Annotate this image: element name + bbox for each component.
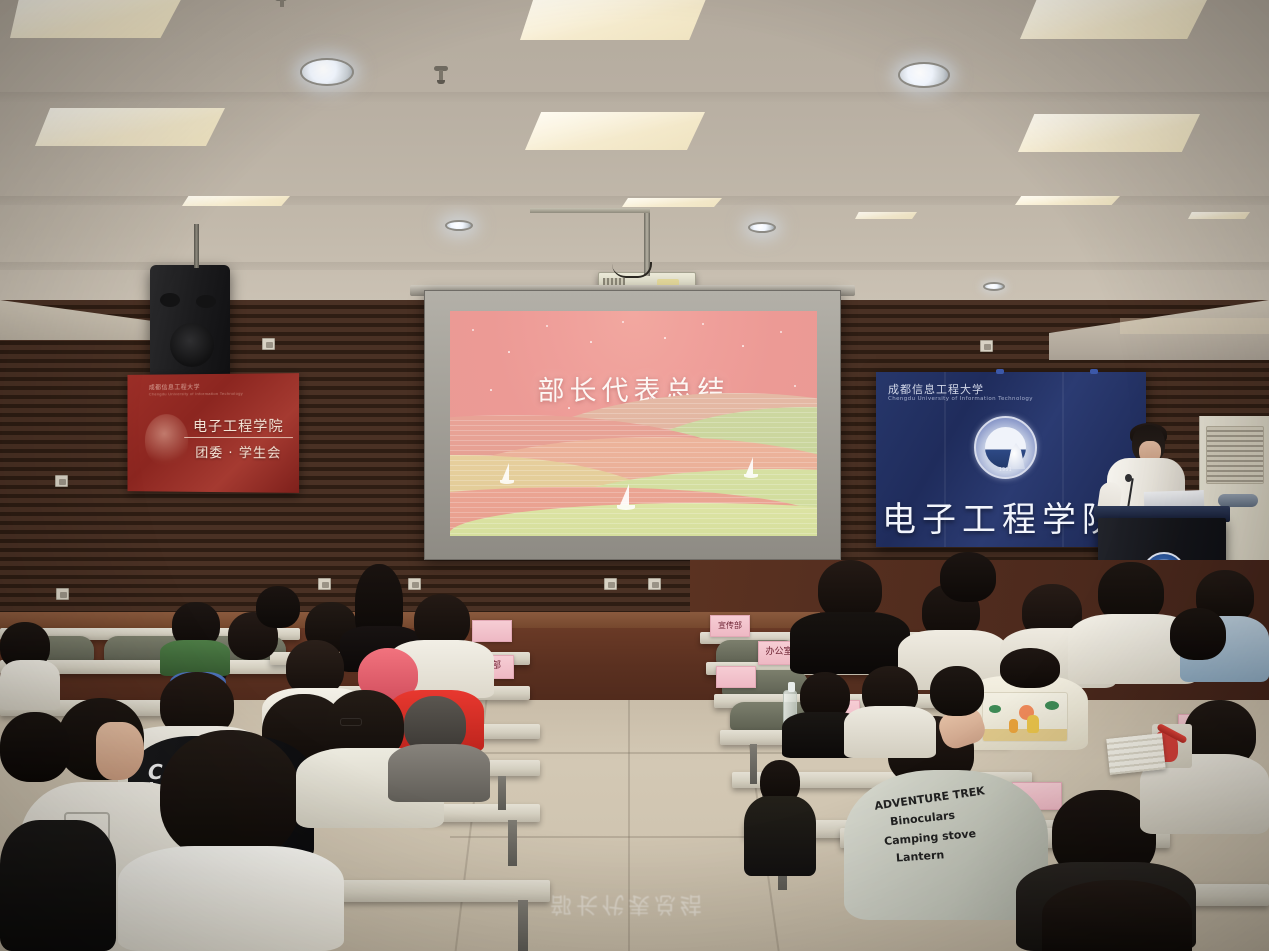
red-banner-school-cn: 成都信息工程大学 xyxy=(149,382,200,391)
ceiling-panel-light xyxy=(520,0,708,40)
blue-banner-school-en: Chengdu University of Information Techno… xyxy=(888,396,1033,402)
red-banner-divider xyxy=(184,437,293,438)
wall-outlet[interactable] xyxy=(56,588,69,600)
speaker-port-right xyxy=(196,295,216,308)
red-banner: 成都信息工程大学 Chengdu University of Informati… xyxy=(127,373,299,493)
ceiling-downlight xyxy=(300,58,354,86)
tropical-figure xyxy=(1027,715,1039,733)
projector-mount-arm xyxy=(530,208,650,213)
name-card-label: 宣传部 xyxy=(711,616,749,630)
tropical-sand xyxy=(983,729,1067,741)
palm-tree-icon xyxy=(989,705,1001,713)
microphone-head-icon xyxy=(1125,474,1132,482)
audience-torso xyxy=(0,820,116,951)
audience-head xyxy=(818,560,882,620)
audience-glasses-icon xyxy=(340,718,362,726)
ceiling-panel-light xyxy=(525,112,705,150)
red-banner-line1: 电子工程学院 xyxy=(184,416,293,436)
ceiling-downlight xyxy=(748,222,776,233)
floor-slide-reflection: 部长代表总结 xyxy=(528,866,728,922)
ceiling-panel-light xyxy=(182,196,290,206)
emblem-inner-disc: 1951 xyxy=(985,427,1026,468)
audience-torso xyxy=(790,612,910,674)
audience-head xyxy=(930,666,984,716)
ceiling-panel-light xyxy=(1188,212,1250,219)
wall-outlet[interactable] xyxy=(648,578,661,590)
blue-banner-school-cn: 成都信息工程大学 xyxy=(888,381,984,397)
speaker-port-left xyxy=(160,293,180,307)
ceiling-panel-light xyxy=(35,108,225,146)
ceiling-panel-light xyxy=(10,0,185,38)
desk-name-card xyxy=(472,620,512,642)
desk-leg xyxy=(508,820,517,866)
ceiling-panel-light xyxy=(1020,0,1210,39)
emblem-year: 1951 xyxy=(985,467,1026,473)
red-banner-school-en: Chengdu University of Information Techno… xyxy=(149,391,243,397)
audience-face-profile xyxy=(96,722,144,780)
audience-head xyxy=(256,586,300,628)
red-banner-line2: 团委 · 学生会 xyxy=(184,442,293,461)
audience-head xyxy=(1170,608,1226,660)
wall-outlet[interactable] xyxy=(262,338,275,350)
wall-outlet[interactable] xyxy=(604,578,617,590)
audience-torso xyxy=(844,706,936,758)
audience-head xyxy=(0,712,70,782)
wall-outlet[interactable] xyxy=(55,475,68,487)
emblem-bird-figure xyxy=(1007,443,1025,469)
desk-leg xyxy=(518,900,528,951)
speaker-woofer xyxy=(170,323,214,367)
paper-stack xyxy=(1106,733,1165,775)
wall-outlet[interactable] xyxy=(408,578,421,590)
desk-leg xyxy=(750,744,757,784)
audience-head-foreground xyxy=(160,730,300,860)
ceiling-panel-light xyxy=(1018,114,1200,152)
bottle-cap xyxy=(788,682,795,692)
speaker-mount-bracket xyxy=(194,224,199,268)
desk-leg xyxy=(498,776,506,810)
ceiling-downlight xyxy=(898,62,950,88)
tropical-figure xyxy=(1009,719,1018,733)
banner-tack xyxy=(1090,369,1098,374)
ceiling-downlight xyxy=(983,282,1005,291)
wall-outlet[interactable] xyxy=(980,340,993,352)
university-emblem: 1951 xyxy=(974,416,1037,479)
wall-outlet[interactable] xyxy=(318,578,331,590)
ceiling-downlight xyxy=(445,220,473,231)
projection-screen: 部长代表总结 xyxy=(424,290,841,560)
banner-tack xyxy=(996,369,1004,374)
slide-surface: 部长代表总结 xyxy=(450,311,817,536)
desk-name-card: 宣传部 xyxy=(710,615,750,637)
lecture-hall-photo: 部长代表总结 xyxy=(0,0,1269,951)
ceiling-panel-light xyxy=(622,198,722,207)
audience-head xyxy=(1000,648,1060,688)
ceiling-panel-light xyxy=(855,212,917,219)
audience-torso xyxy=(0,660,60,710)
fire-sprinkler-icon xyxy=(275,0,291,10)
palm-tree-icon xyxy=(1045,701,1059,710)
audience-torso-green xyxy=(160,640,230,676)
ac-grille xyxy=(1206,426,1264,484)
tropical-shirt-graphic xyxy=(982,692,1068,742)
audience-head-foreground xyxy=(1042,880,1192,951)
audience-torso xyxy=(744,796,816,876)
wall-light-strip xyxy=(1120,318,1269,334)
ceiling-panel-light xyxy=(1015,196,1120,205)
audience-torso xyxy=(388,744,490,802)
fire-sprinkler-icon xyxy=(434,66,450,86)
desk-name-card xyxy=(716,666,756,688)
audience-head xyxy=(940,552,996,602)
red-banner-logo xyxy=(145,414,188,466)
audience-torso-foreground xyxy=(118,846,344,951)
ceiling-beam-1 xyxy=(0,92,1269,102)
